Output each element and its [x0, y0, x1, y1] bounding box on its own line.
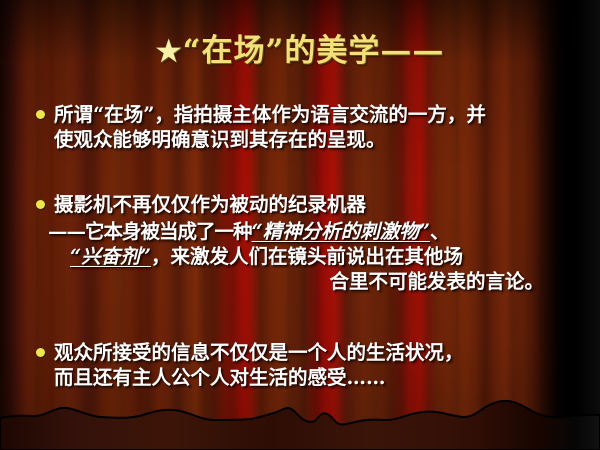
bullet-line: 摄影机不再仅仅作为被动的纪录机器	[54, 192, 574, 217]
bullet-item: 摄影机不再仅仅作为被动的纪录机器	[0, 192, 600, 217]
sub-line-suffix: ，来激发人们在镜头前说出在其他场	[151, 245, 463, 268]
slide-body: 所谓“在场”，指拍摄主体作为语言交流的一方，并 使观众能够明确意识到其存在的呈现…	[0, 98, 600, 390]
bullet-marker-icon	[36, 348, 45, 357]
sub-line-suffix: 、	[430, 220, 450, 243]
emphasized-phrase: “精神分析的刺激物”	[252, 220, 430, 243]
bullet-line: 观众所接受的信息不仅仅是一个人的生活状况，	[54, 340, 574, 365]
bullet-sub-line: 合里不可能发表的言论。	[40, 269, 574, 294]
bullet-marker-icon	[36, 110, 45, 119]
bullet-sub-line: ——它本身被当成了一种“精神分析的刺激物”、	[40, 219, 574, 244]
bullet-line: 所谓“在场”，指拍摄主体作为语言交流的一方，并	[54, 102, 574, 127]
emphasized-phrase: “兴奋剂”	[70, 245, 151, 268]
curtain-bottom-edge	[0, 384, 600, 450]
bullet-item: 观众所接受的信息不仅仅是一个人的生活状况， 而且还有主人公个人对生活的感受……	[0, 340, 600, 390]
bullet-sub-block: ——它本身被当成了一种“精神分析的刺激物”、 “兴奋剂”，来激发人们在镜头前说出…	[0, 219, 600, 294]
sub-line-prefix: ——它本身被当成了一种	[48, 220, 252, 243]
bullet-line: 而且还有主人公个人对生活的感受……	[54, 365, 574, 390]
slide-title: ★“在场”的美学——	[0, 30, 600, 72]
bullet-item: 所谓“在场”，指拍摄主体作为语言交流的一方，并 使观众能够明确意识到其存在的呈现…	[0, 102, 600, 152]
bullet-line: 使观众能够明确意识到其存在的呈现。	[54, 127, 574, 152]
star-icon: ★	[156, 34, 183, 68]
bullet-sub-line: “兴奋剂”，来激发人们在镜头前说出在其他场	[40, 244, 574, 269]
slide-title-text: “在场”的美学——	[183, 33, 445, 69]
bullet-marker-icon	[36, 200, 45, 209]
presentation-slide: ★“在场”的美学—— 所谓“在场”，指拍摄主体作为语言交流的一方，并 使观众能够…	[0, 0, 600, 450]
